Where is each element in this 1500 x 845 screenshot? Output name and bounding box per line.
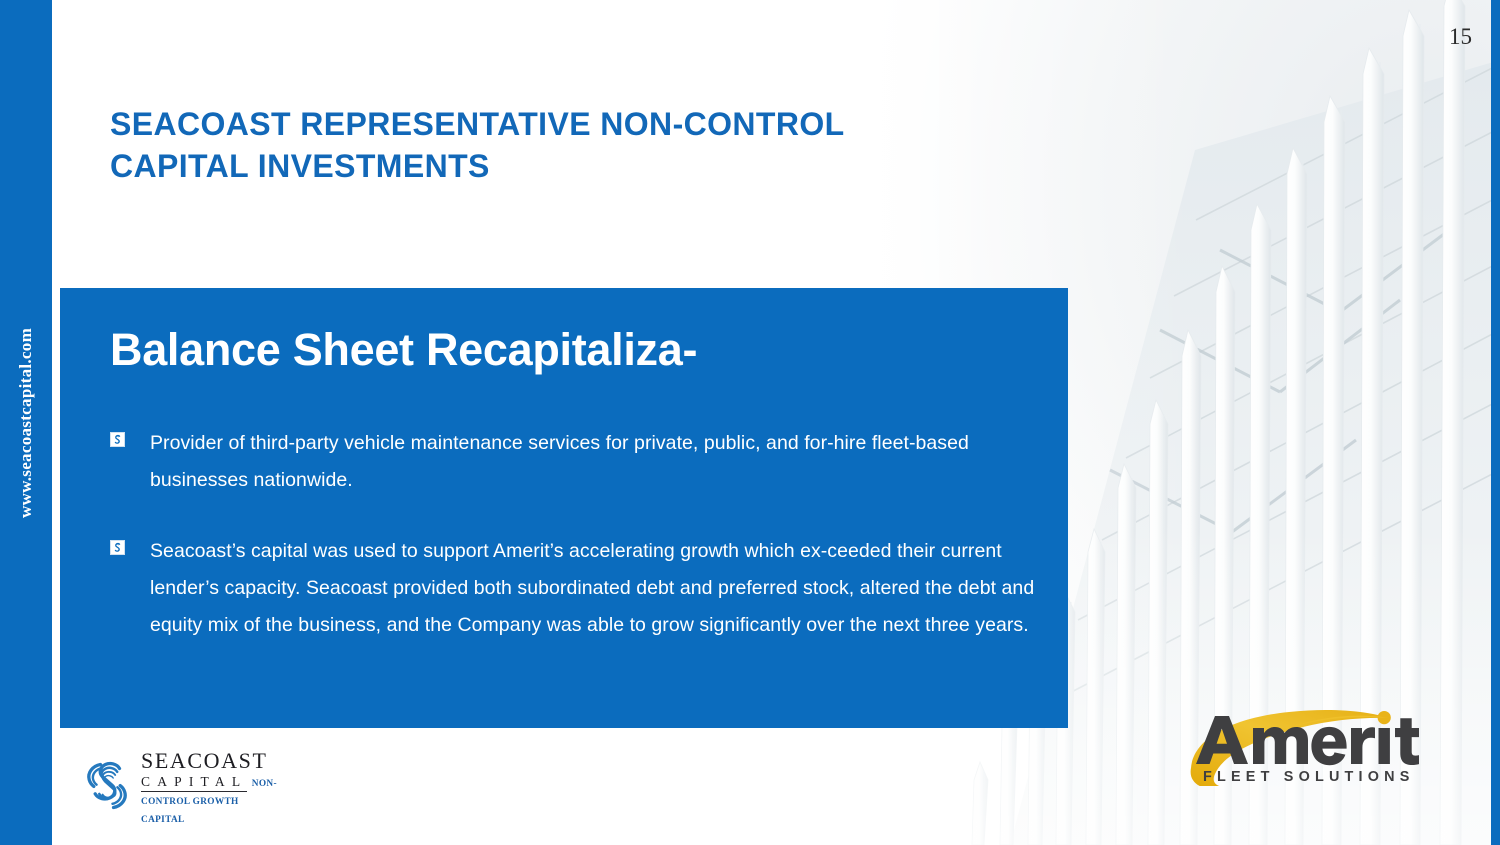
amerit-fleet-solutions-logo: FLEET SOLUTIONS <box>1185 690 1435 786</box>
page-title-line-1: SEACOAST REPRESENTATIVE NON-CONTROL <box>110 104 1090 146</box>
left-blue-rail: www.seacoastcapital.com <box>0 0 52 845</box>
list-item: Seacoast’s capital was used to support A… <box>110 533 1042 644</box>
seacoast-capital-logo: SEACOAST CAPITAL NON-CONTROL GROWTH CAPI… <box>82 752 282 820</box>
bullet-text: Provider of third-party vehicle maintena… <box>150 425 1042 499</box>
panel-heading: Balance Sheet Recapitaliza- <box>110 324 697 376</box>
list-item: Provider of third-party vehicle maintena… <box>110 425 1042 499</box>
right-edge-accent <box>1491 0 1500 845</box>
seacoast-s-mark-icon <box>82 755 132 817</box>
page-title: SEACOAST REPRESENTATIVE NON-CONTROL CAPI… <box>110 104 1090 187</box>
bullet-text: Seacoast’s capital was used to support A… <box>150 533 1042 644</box>
seacoast-logo-subname: CAPITAL <box>141 774 247 792</box>
slide-root: www.seacoastcapital.com 15 SEACOAST REPR… <box>0 0 1500 845</box>
seacoast-logo-wordmark: SEACOAST CAPITAL NON-CONTROL GROWTH CAPI… <box>141 746 282 827</box>
seacoast-s-bullet-icon <box>110 540 125 555</box>
svg-text:FLEET SOLUTIONS: FLEET SOLUTIONS <box>1203 769 1415 785</box>
seacoast-s-bullet-icon <box>110 432 125 447</box>
page-title-line-2: CAPITAL INVESTMENTS <box>110 146 1090 188</box>
website-url-vertical: www.seacoastcapital.com <box>16 327 36 517</box>
seacoast-logo-name: SEACOAST <box>141 748 268 773</box>
page-number: 15 <box>1449 24 1472 50</box>
bullet-list: Provider of third-party vehicle maintena… <box>110 425 1042 644</box>
content-panel: Balance Sheet Recapitaliza- Provider of … <box>60 288 1068 728</box>
